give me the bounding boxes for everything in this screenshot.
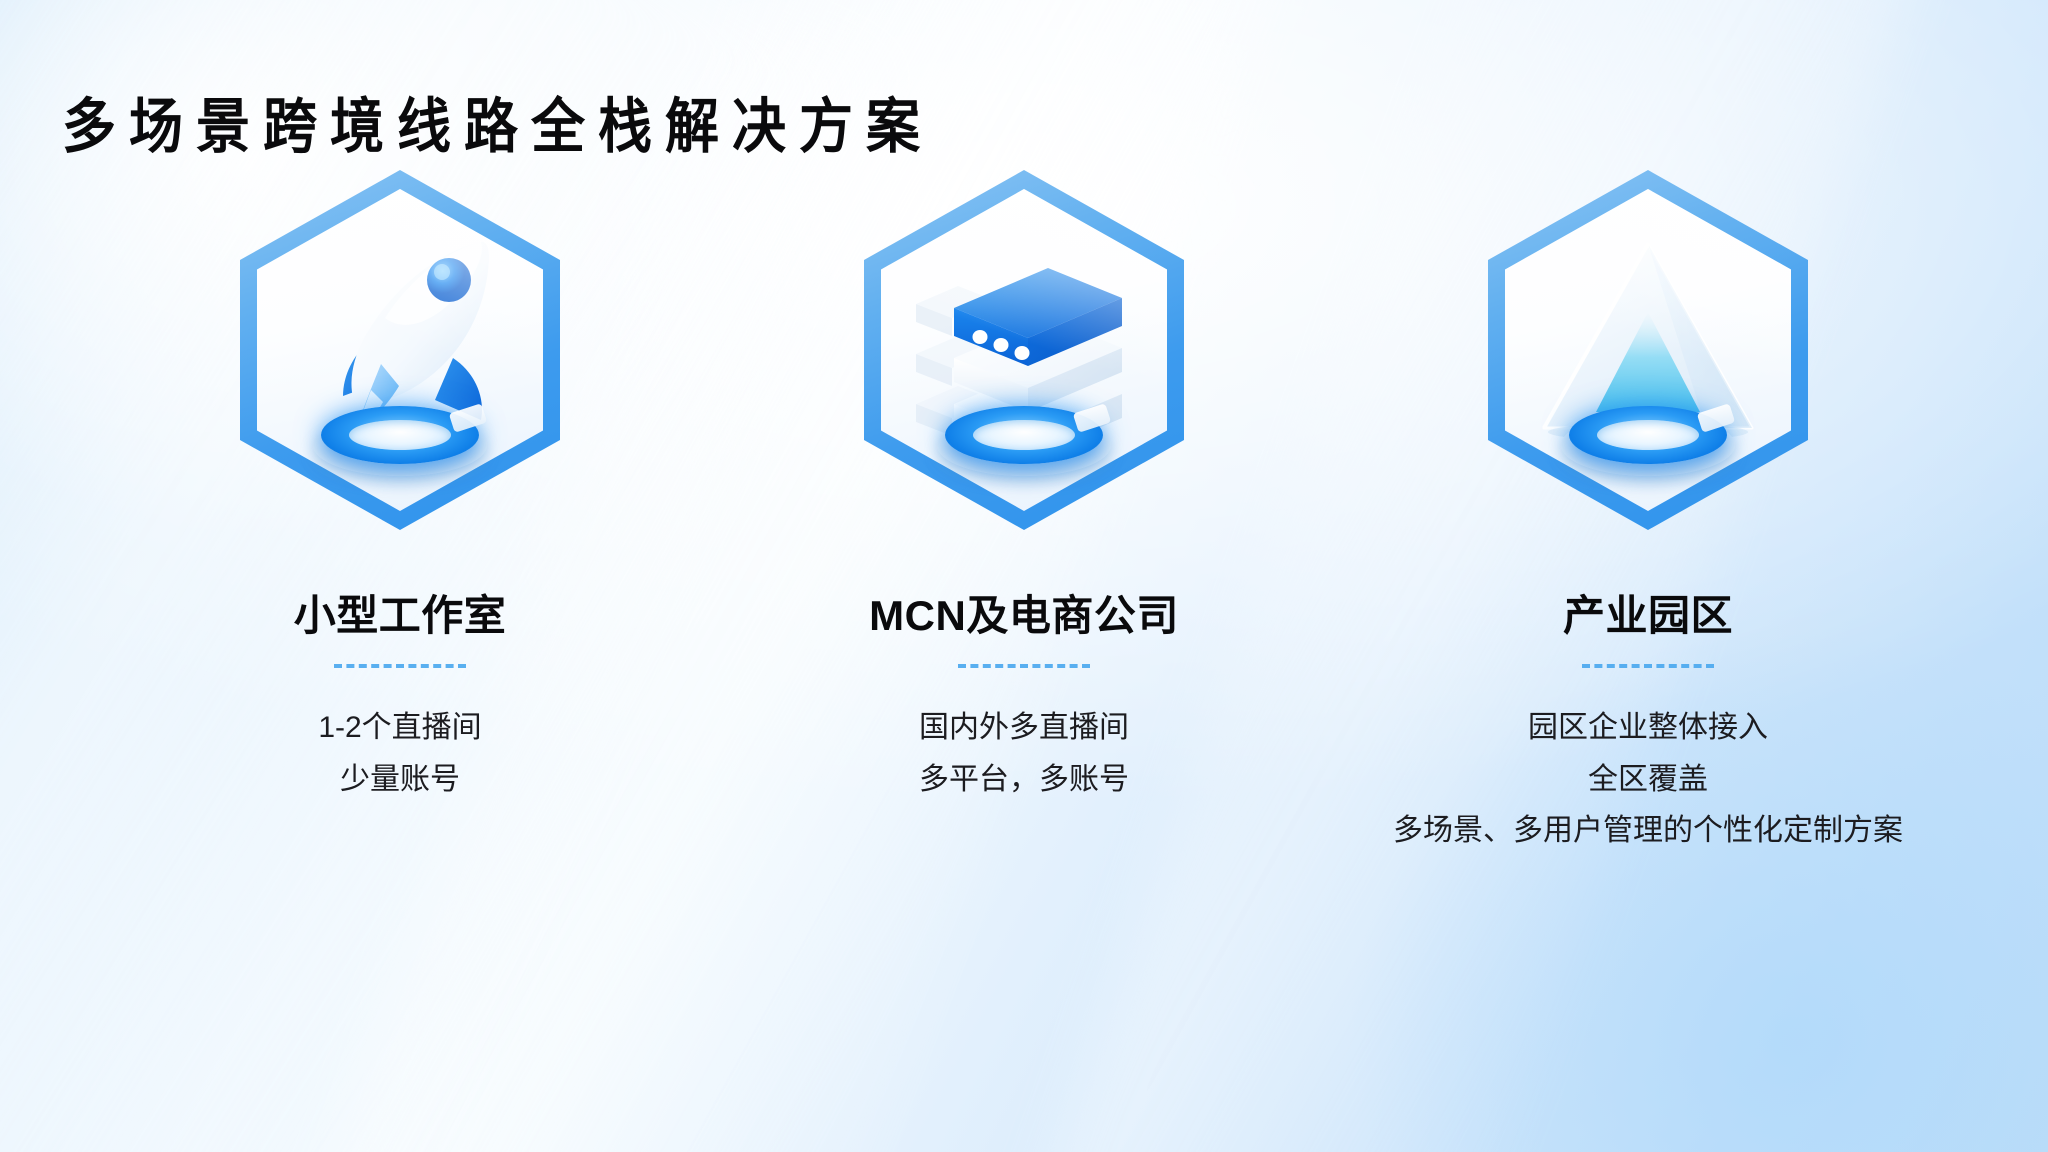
card-title: 小型工作室 — [294, 592, 507, 640]
card-description: 国内外多直播间 多平台，多账号 — [919, 702, 1129, 805]
card-divider — [958, 664, 1090, 668]
podium-ring-inner — [349, 420, 451, 450]
slide-canvas: 多场景跨境线路全栈解决方案 — [0, 0, 2048, 1152]
card-description-line: 多平台，多账号 — [919, 754, 1129, 806]
card-title: 产业园区 — [1563, 592, 1733, 640]
hexagon-badge — [240, 170, 560, 530]
hexagon-badge — [1488, 170, 1808, 530]
podium-ring-inner — [973, 420, 1075, 450]
podium-ring-inner — [1597, 420, 1699, 450]
card-description-line: 少量账号 — [318, 754, 481, 806]
card-small-studio[interactable]: 小型工作室 1-2个直播间 少量账号 — [120, 170, 680, 857]
card-description-line: 园区企业整体接入 — [1393, 702, 1903, 754]
glow-podium — [931, 400, 1117, 478]
podium-notch — [1697, 403, 1736, 433]
hexagon-artwork — [240, 170, 560, 530]
card-description-line: 全区覆盖 — [1393, 754, 1903, 806]
card-row: 小型工作室 1-2个直播间 少量账号 — [0, 170, 2048, 857]
page-title: 多场景跨境线路全栈解决方案 — [62, 92, 933, 163]
hexagon-artwork — [1488, 170, 1808, 530]
glow-podium — [1555, 400, 1741, 478]
podium-notch — [449, 403, 488, 433]
glow-podium — [307, 400, 493, 478]
card-description-line: 1-2个直播间 — [318, 702, 481, 754]
hexagon-badge — [864, 170, 1184, 530]
card-divider — [1582, 664, 1714, 668]
podium-notch — [1073, 403, 1112, 433]
hexagon-artwork — [864, 170, 1184, 530]
card-description-line: 多场景、多用户管理的个性化定制方案 — [1393, 805, 1903, 857]
card-title: MCN及电商公司 — [869, 592, 1179, 640]
card-description: 园区企业整体接入 全区覆盖 多场景、多用户管理的个性化定制方案 — [1393, 702, 1903, 857]
card-mcn-ecommerce[interactable]: MCN及电商公司 国内外多直播间 多平台，多账号 — [744, 170, 1304, 857]
card-industrial-park[interactable]: 产业园区 园区企业整体接入 全区覆盖 多场景、多用户管理的个性化定制方案 — [1368, 170, 1928, 857]
card-divider — [334, 664, 466, 668]
card-description-line: 国内外多直播间 — [919, 702, 1129, 754]
card-description: 1-2个直播间 少量账号 — [318, 702, 481, 805]
